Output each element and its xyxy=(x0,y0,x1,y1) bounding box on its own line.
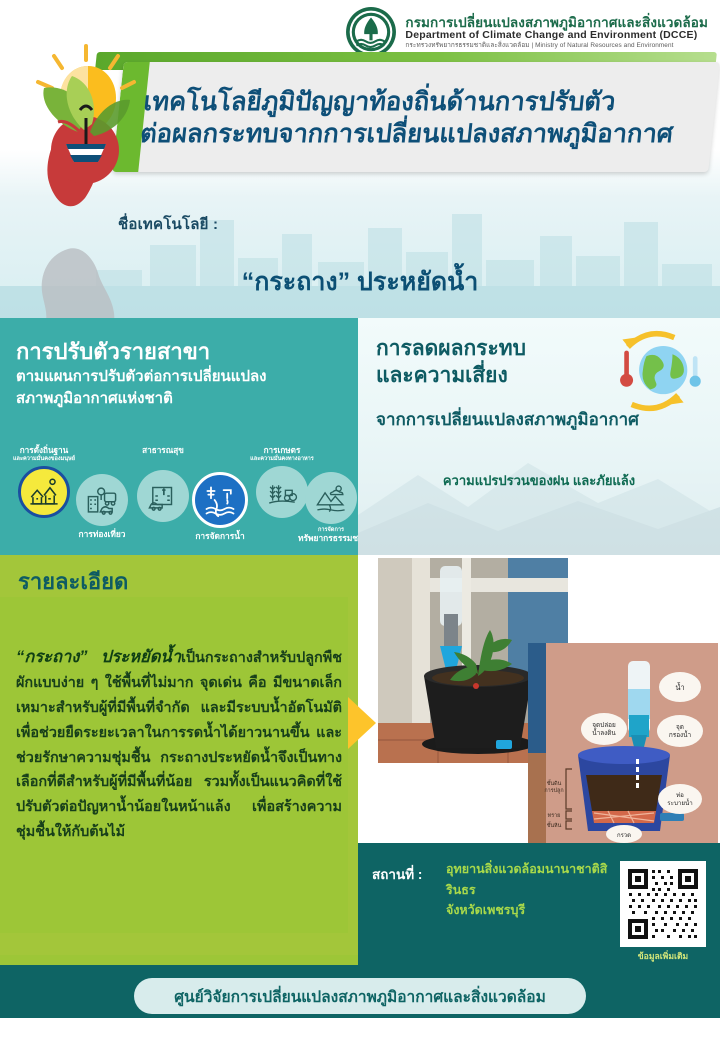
title-line-1: เทคโนโลยีภูมิปัญญาท้องถิ่นด้านการปรับตัว xyxy=(142,86,705,118)
sector-label-agriculture: การเกษตร และความมั่นคงทางอาหาร xyxy=(246,446,318,462)
svg-text:ระบายน้ำ: ระบายน้ำ xyxy=(667,798,692,807)
poster-title: เทคโนโลยีภูมิปัญญาท้องถิ่นด้านการปรับตัว… xyxy=(137,70,707,166)
details-panel: รายละเอียด “กระถาง” ประหยัดน้ำเป็นกระถาง… xyxy=(0,555,358,955)
svg-text:น้ำ: น้ำ xyxy=(675,682,684,692)
adaptation-subheading-line2: สภาพภูมิอากาศแห่งชาติ xyxy=(16,388,346,410)
mitigation-heading-line2: และความเสี่ยง xyxy=(376,363,526,390)
mountain-background-icon xyxy=(358,445,720,555)
sector-item-natural-resources[interactable]: การจัดการ ทรัพยากรธรรมชาติ xyxy=(298,472,358,544)
svg-text:จุด: จุด xyxy=(676,724,684,731)
svg-text:การปลูก: การปลูก xyxy=(544,787,563,794)
adaptation-subheading-line1: ตามแผนการปรับตัวต่อการเปลี่ยนแปลง xyxy=(16,366,346,388)
sector-item-tourism[interactable]: การท่องเที่ยว xyxy=(66,474,138,540)
settlement-houses-icon xyxy=(18,466,70,518)
sector-label-water-management: การจัดการน้ำ xyxy=(182,532,258,542)
details-lead: “กระถาง” ประหยัดน้ำ xyxy=(16,648,181,666)
adaptation-heading: การปรับตัวรายสาขา xyxy=(16,334,210,369)
qr-caption: ข้อมูลเพิ่มเติม xyxy=(620,949,706,963)
details-heading: รายละเอียด xyxy=(18,564,128,599)
mitigation-panel: การลดผลกระทบ และความเสี่ยง จากการเปลี่ยน… xyxy=(358,318,720,555)
technology-name: “กระถาง” ประหยัดน้ำ xyxy=(0,262,720,302)
location-bar: สถานที่ : อุทยานสิ่งแวดล้อมนานาชาติสิริน… xyxy=(358,843,720,965)
footer-pill: ศูนย์วิจัยการเปลี่ยนแปลงสภาพภูมิอากาศและ… xyxy=(134,978,586,1014)
sector-label-settlement: การตั้งถิ่นฐาน และความมั่นคงของมนุษย์ xyxy=(10,446,78,462)
mitigation-note: ความแปรปรวนของฝน และภัยแล้ง xyxy=(358,470,720,491)
org-name-en: Department of Climate Change and Environ… xyxy=(405,30,708,42)
footer-whitespace xyxy=(0,1018,720,1040)
globe-thermometer-icon xyxy=(602,328,704,414)
mitigation-heading-line1: การลดผลกระทบ xyxy=(376,336,526,363)
svg-text:จุดปล่อย: จุดปล่อย xyxy=(592,722,616,729)
water-management-tap-river-icon xyxy=(192,472,248,528)
dcce-seal-icon xyxy=(345,6,397,58)
svg-text:น้ำลงดิน: น้ำลงดิน xyxy=(592,728,616,737)
tourism-city-bus-icon xyxy=(76,474,128,526)
svg-text:กรวด: กรวด xyxy=(617,832,631,839)
title-line-2: ต่อผลกระทบจากการเปลี่ยนแปลงสภาพภูมิอากาศ xyxy=(139,118,702,150)
location-label: สถานที่ : xyxy=(372,863,422,885)
adaptation-sectors-panel: การปรับตัวรายสาขา ตามแผนการปรับตัวต่อการ… xyxy=(0,318,358,555)
arrow-right-icon xyxy=(348,697,376,749)
location-value: อุทยานสิ่งแวดล้อมนานาชาติสิรินธร จังหวัด… xyxy=(446,859,616,921)
qr-code-icon[interactable] xyxy=(620,861,706,947)
natural-resources-mountain-icon xyxy=(305,472,357,524)
sector-label-public-health: สาธารณสุข xyxy=(130,446,196,456)
details-body-text: เป็นกระถางสำหรับปลูกพืชผักแบบง่าย ๆ ใช้พ… xyxy=(16,650,342,840)
location-value-line1: อุทยานสิ่งแวดล้อมนานาชาติสิรินธร xyxy=(446,859,616,900)
adaptation-subheading: ตามแผนการปรับตัวต่อการเปลี่ยนแปลง สภาพภู… xyxy=(16,366,346,410)
sector-label-tourism: การท่องเที่ยว xyxy=(66,530,138,540)
footer-text: ศูนย์วิจัยการเปลี่ยนแปลงสภาพภูมิอากาศและ… xyxy=(174,984,546,1009)
organization-branding: กรมการเปลี่ยนแปลงสภาพภูมิอากาศและสิ่งแวด… xyxy=(345,6,708,58)
location-value-line2: จังหวัดเพชรบุรี xyxy=(446,900,616,921)
details-panel-footer-fill xyxy=(0,955,358,965)
ministry-line: กระทรวงทรัพยากรธรรมชาติและสิ่งแวดล้อม | … xyxy=(405,42,708,49)
svg-text:ชั้นหิน: ชั้นหิน xyxy=(547,821,562,829)
mitigation-heading: การลดผลกระทบ และความเสี่ยง xyxy=(376,336,526,390)
svg-text:กรองน้ำ: กรองน้ำ xyxy=(669,730,691,739)
details-body: “กระถาง” ประหยัดน้ำเป็นกระถางสำหรับปลูกพ… xyxy=(16,643,342,845)
poster-root: กรมการเปลี่ยนแปลงสภาพภูมิอากาศและสิ่งแวด… xyxy=(0,0,720,1040)
sector-icon-row: การตั้งถิ่นฐาน และความมั่นคงของมนุษย์ xyxy=(6,446,356,551)
svg-text:ทราย: ทราย xyxy=(548,813,561,819)
photo-water-saving-pot-diagram: ชั้นดินการปลูก ทรายชั้นหิน น้ำ จุด กรองน… xyxy=(528,643,718,843)
lightbulb-leaf-map-pin-icon xyxy=(18,40,168,220)
technology-label: ชื่อเทคโนโลยี : xyxy=(118,212,218,236)
svg-text:ท่อ: ท่อ xyxy=(676,792,684,799)
svg-text:ชั้นดิน: ชั้นดิน xyxy=(547,779,562,787)
sector-label-natural-resources: การจัดการ ทรัพยากรธรรมชาติ xyxy=(298,527,358,544)
org-name-th: กรมการเปลี่ยนแปลงสภาพภูมิอากาศและสิ่งแวด… xyxy=(405,15,708,30)
